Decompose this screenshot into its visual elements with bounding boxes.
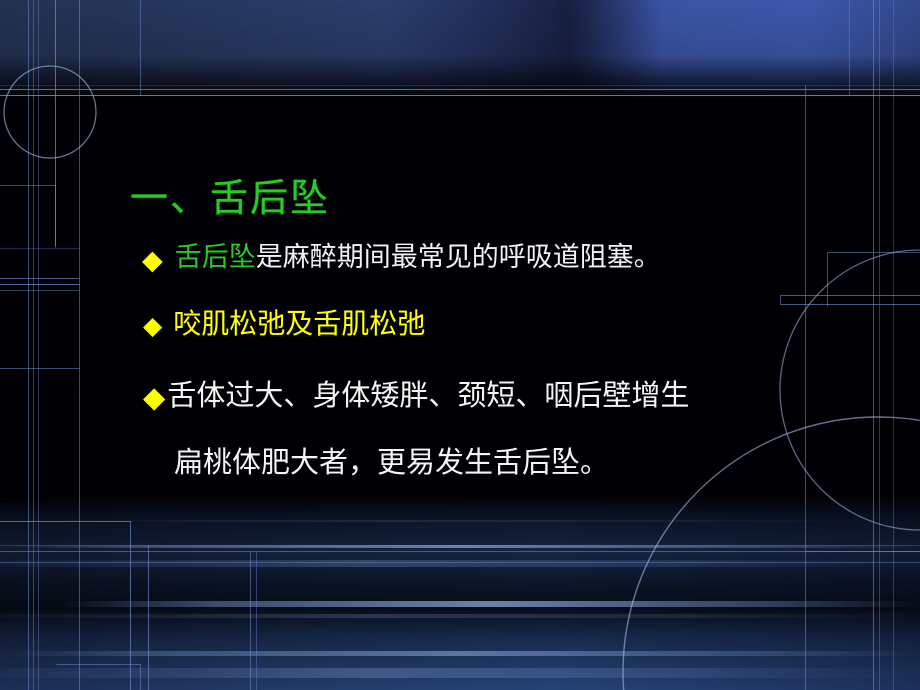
presentation-slide: 一、舌后坠 ◆ 舌后坠是麻醉期间最常见的呼吸道阻塞。 ◆ 咬肌松弛及舌肌松弛 ◆… xyxy=(0,0,920,690)
bullet-item-3-continuation: 扁桃体肥大者，更易发生舌后坠。 xyxy=(174,448,609,477)
bullet-item-1-text: 舌后坠是麻醉期间最常见的呼吸道阻塞。 xyxy=(175,244,661,271)
slide-content: 一、舌后坠 ◆ 舌后坠是麻醉期间最常见的呼吸道阻塞。 ◆ 咬肌松弛及舌肌松弛 ◆… xyxy=(0,0,920,690)
bullet-item-3-text: 舌体过大、身体矮胖、颈短、咽后壁增生 xyxy=(167,381,689,410)
bullet-item-3: ◆ 舌体过大、身体矮胖、颈短、咽后壁增生 xyxy=(143,381,689,412)
bullet-item-1-segment-body: 是麻醉期间最常见的呼吸道阻塞。 xyxy=(256,242,661,273)
bullet-item-1-segment-highlight: 舌后坠 xyxy=(175,242,256,273)
bullet-item-2: ◆ 咬肌松弛及舌肌松弛 xyxy=(143,310,425,338)
bullet-item-2-text: 咬肌松弛及舌肌松弛 xyxy=(173,310,425,338)
bullet-diamond-icon: ◆ xyxy=(143,383,165,412)
slide-title: 一、舌后坠 xyxy=(130,178,330,220)
bullet-diamond-icon: ◆ xyxy=(143,313,162,338)
bullet-diamond-icon: ◆ xyxy=(142,247,163,274)
bullet-item-1: ◆ 舌后坠是麻醉期间最常见的呼吸道阻塞。 xyxy=(142,244,661,274)
